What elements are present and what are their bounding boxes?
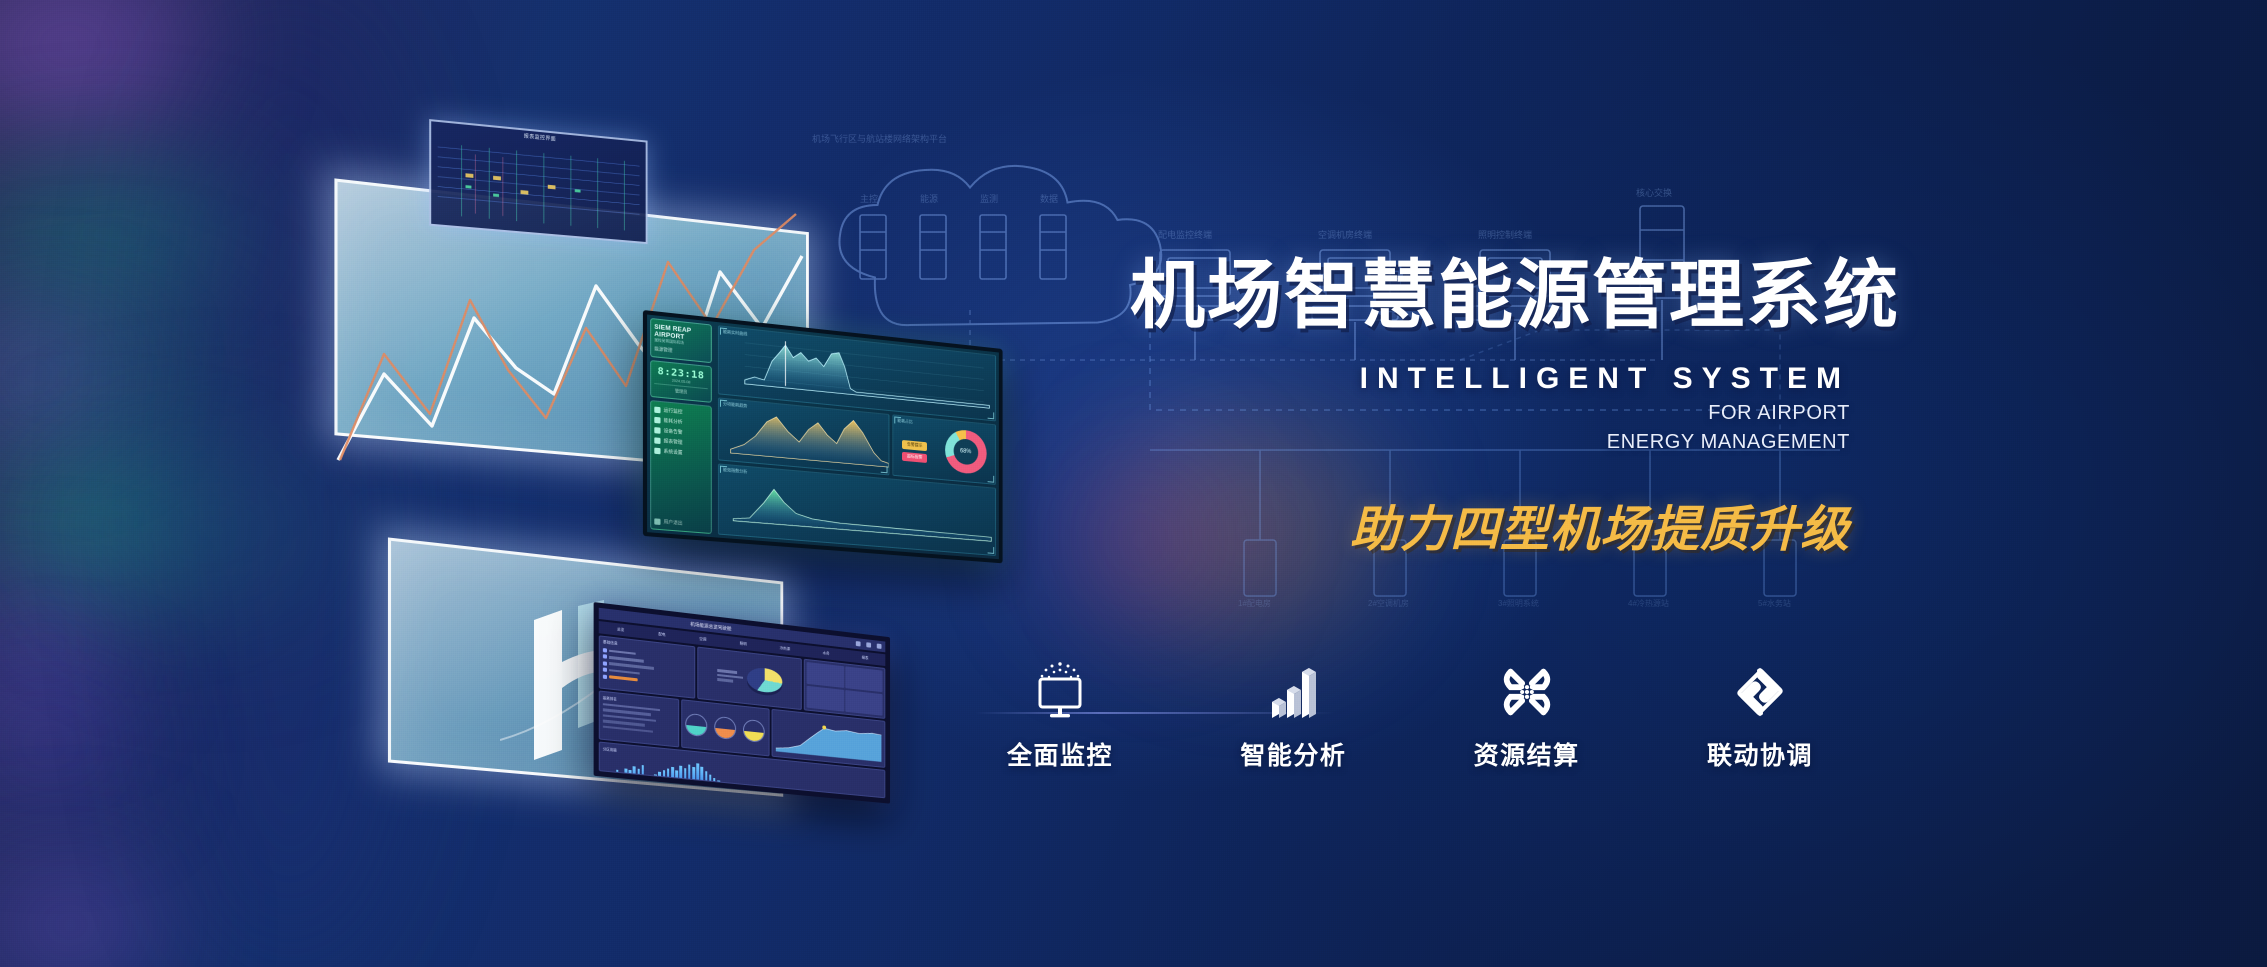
dashboard-body: 能耗实时曲线 xyxy=(715,322,999,559)
menu-item-3[interactable]: 报表管理 xyxy=(654,438,707,449)
bg-blob-teal-1 xyxy=(0,170,260,300)
feature-item-monitoring[interactable]: 全面监控 xyxy=(960,660,1160,772)
feature-row: 全面监控 智能分析 xyxy=(960,660,1860,772)
corner-mark xyxy=(881,466,888,474)
bg-blob-green-1 xyxy=(0,480,220,570)
sidebar-airport-card: SIEM REAP AIRPORT 暹粒吴哥国际机场 能源管理 xyxy=(650,318,712,364)
report-icon xyxy=(654,438,660,445)
feature-label-1: 智能分析 xyxy=(1240,736,1346,772)
sidebar-menu[interactable]: 运行监控 能耗分析 设备告警 报表管理 系统设置 用户退出 xyxy=(650,400,712,534)
nav-item-3[interactable]: 照明 xyxy=(740,641,747,647)
svg-text:1#配电房: 1#配电房 xyxy=(1238,598,1271,608)
card-basic-info[interactable]: 基础信息 xyxy=(599,635,696,698)
settings-icon[interactable] xyxy=(877,643,882,648)
menu-label-2: 设备告警 xyxy=(664,428,683,436)
menu-label-4: 系统设置 xyxy=(664,449,683,457)
pie-chart-3d xyxy=(747,666,782,694)
svg-text:核心交换: 核心交换 xyxy=(1636,187,1672,198)
sidebar-clock-card: 8:23:18 2024.05.08 管理员 xyxy=(650,360,712,403)
nav-item-4[interactable]: 冷热源 xyxy=(780,645,791,651)
home-icon xyxy=(654,407,660,414)
bg-blob-teal-2 xyxy=(0,300,250,460)
svg-text:监测: 监测 xyxy=(980,193,998,204)
nav-item-2[interactable]: 空调 xyxy=(699,636,706,642)
nav-item-0[interactable]: 总览 xyxy=(617,627,624,633)
gauge-donut-chart: 68% xyxy=(945,428,987,475)
nav-item-1[interactable]: 配电 xyxy=(658,631,665,637)
corner-mark xyxy=(988,547,995,554)
menu-label-1: 能耗分析 xyxy=(664,418,683,426)
area-chart-graphic xyxy=(719,398,889,470)
dashboard-sidebar: SIEM REAP AIRPORT 暹粒吴哥国际机场 能源管理 8:23:18 … xyxy=(647,315,715,538)
corner-mark xyxy=(988,412,995,419)
svg-text:空调机房终端: 空调机房终端 xyxy=(1318,229,1372,240)
tag-warning[interactable]: 告警提示 xyxy=(902,439,927,450)
bg-blob-teal-3 xyxy=(60,430,360,630)
linked-diamonds-icon xyxy=(1730,660,1790,722)
screen-report-spreadsheet[interactable]: 报表监控界面 xyxy=(429,119,647,244)
bg-blob-violet-2 xyxy=(0,330,110,420)
svg-text:主控: 主控 xyxy=(860,193,878,204)
bg-blob-violet-5 xyxy=(0,870,160,967)
screen-purple-dashboard[interactable]: 机场能源总览驾驶舱 总览 配电 空调 照明 冷热源 水务 报表 基础信息 xyxy=(594,602,890,804)
nav-item-6[interactable]: 报表 xyxy=(862,655,869,661)
card-kpi-grid[interactable] xyxy=(803,659,885,719)
analytics-icon xyxy=(654,417,660,424)
monitor-signal-icon xyxy=(1029,660,1091,722)
corner-mark xyxy=(988,475,995,482)
panel-gauge[interactable]: 能耗占比 告警提示 超标报警 68% xyxy=(892,414,996,485)
svg-text:3#照明系统: 3#照明系统 xyxy=(1498,598,1539,608)
svg-text:5#水务站: 5#水务站 xyxy=(1758,598,1791,608)
subtitle-line-1: FOR AIRPORT xyxy=(1130,402,1850,425)
svg-text:机场飞行区与航站楼网络架构平台: 机场飞行区与航站楼网络架构平台 xyxy=(812,133,947,144)
alarm-icon xyxy=(654,427,660,434)
page-title: 机场智慧能源管理系统 xyxy=(1130,255,1850,336)
bg-blob-blue-edge xyxy=(160,0,420,967)
screen-main-dashboard[interactable]: SIEM REAP AIRPORT 暹粒吴哥国际机场 能源管理 8:23:18 … xyxy=(643,310,1003,563)
menu-label-5: 用户退出 xyxy=(664,519,683,527)
gear-icon xyxy=(654,448,660,455)
load-trend-graphic xyxy=(772,710,884,767)
card-pie-summary[interactable] xyxy=(698,647,802,710)
user-icon[interactable] xyxy=(856,641,861,646)
feature-label-2: 资源结算 xyxy=(1474,736,1580,772)
panel-area-chart[interactable]: 分项能耗趋势 xyxy=(718,397,890,475)
bg-blob-violet-4 xyxy=(0,700,130,790)
bar-chart-3d-icon xyxy=(1262,660,1324,722)
bg-blob-violet-1 xyxy=(0,0,200,130)
resource-node-icon xyxy=(1497,660,1557,722)
banner-root: 机场飞行区与航站楼网络架构平台 主控能源监测数据 配电监控终端空调机房终端照明控… xyxy=(0,0,2267,967)
subtitle-line-2: ENERGY MANAGEMENT xyxy=(1130,431,1850,454)
svg-text:数据: 数据 xyxy=(1040,193,1058,204)
purple-title: 机场能源总览驾驶舱 xyxy=(690,621,731,632)
subtitle-english: INTELLIGENT SYSTEM xyxy=(1130,362,1850,396)
tag-alarm[interactable]: 超标报警 xyxy=(902,451,927,462)
liquid-gauge-1 xyxy=(685,713,707,737)
feature-label-3: 联动协调 xyxy=(1707,736,1813,772)
svg-text:2#空调机房: 2#空调机房 xyxy=(1368,598,1409,608)
menu-item-1[interactable]: 能耗分析 xyxy=(654,417,707,428)
hero-text-block: 机场智慧能源管理系统 INTELLIGENT SYSTEM FOR AIRPOR… xyxy=(1130,255,1850,561)
liquid-gauge-2 xyxy=(714,716,736,740)
feature-item-coordination[interactable]: 联动协调 xyxy=(1660,660,1860,772)
feature-item-analysis[interactable]: 智能分析 xyxy=(1193,660,1393,772)
svg-text:配电监控终端: 配电监控终端 xyxy=(1158,229,1212,240)
menu-item-4[interactable]: 系统设置 xyxy=(654,448,707,459)
bg-blob-violet-3 xyxy=(0,600,120,690)
nav-item-5[interactable]: 水务 xyxy=(823,650,830,656)
menu-item-2[interactable]: 设备告警 xyxy=(654,427,707,438)
gauge-value: 68% xyxy=(945,428,987,475)
menu-item-5[interactable]: 用户退出 xyxy=(654,518,707,528)
logout-icon xyxy=(654,518,660,525)
gauge-title: 能耗占比 xyxy=(897,418,912,425)
menu-label-3: 报表管理 xyxy=(664,438,683,446)
svg-text:能源: 能源 xyxy=(920,193,938,204)
svg-text:照明控制终端: 照明控制终端 xyxy=(1478,229,1532,240)
feature-label-0: 全面监控 xyxy=(1007,736,1113,772)
card-gauges[interactable] xyxy=(681,699,770,756)
menu-label-0: 运行监控 xyxy=(664,408,683,416)
feature-item-settlement[interactable]: 资源结算 xyxy=(1427,660,1627,772)
liquid-gauge-3 xyxy=(743,719,765,743)
card-ranking[interactable]: 能耗排名 xyxy=(599,690,679,747)
menu-item-0[interactable]: 运行监控 xyxy=(654,407,707,418)
card-load-trend[interactable] xyxy=(771,709,885,768)
tagline-gold: 助力四型机场提质升级 xyxy=(1130,490,1850,561)
svg-text:4#冷热源站: 4#冷热源站 xyxy=(1628,598,1669,608)
bell-icon[interactable] xyxy=(866,642,871,647)
